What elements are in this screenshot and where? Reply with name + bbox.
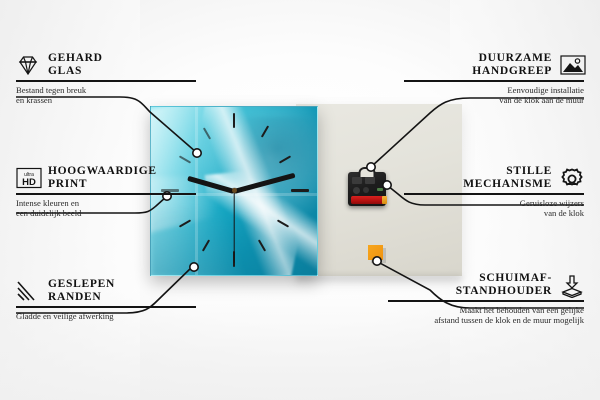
feature-title: GEHARDGLAS: [48, 52, 103, 77]
movement-dial: [353, 187, 360, 194]
clock-tick-5: [258, 239, 266, 251]
movement-dial: [363, 187, 369, 193]
gear-icon: [560, 167, 584, 189]
clock-tick-11: [203, 127, 211, 139]
divider: [404, 80, 584, 82]
feature-description: Gladde en veilige afwerking: [16, 311, 196, 321]
feature-gehard-glas: GEHARDGLAS Bestand tegen breuken krassen: [16, 52, 196, 105]
artwork-streak: [205, 160, 318, 276]
feature-description: Intense kleuren eneen duidelijk beeld: [16, 198, 196, 218]
clock-movement: [348, 172, 386, 206]
hanger-hook: [359, 167, 376, 177]
feature-stille-mechanisme: STILLEMECHANISME Geruisloze wijzersvan d…: [404, 165, 584, 218]
foam-spacer-pad: [368, 245, 383, 260]
feature-duurzame-handgreep: DUURZAMEHANDGREEP Eenvoudige installatie…: [404, 52, 584, 105]
feature-description: Maakt het behouden van een gelijkeafstan…: [388, 305, 584, 325]
spacer-stack-icon: [560, 274, 584, 296]
movement-detail: [352, 177, 362, 184]
feature-title: SCHUIMAF-STANDHOUDER: [456, 272, 552, 297]
feature-title: GESLEPENRANDEN: [48, 278, 115, 303]
clock-tick-1: [261, 125, 269, 137]
feature-description: Eenvoudige installatievan de klok aan de…: [404, 85, 584, 105]
clock-center-pin: [232, 188, 237, 193]
clock-minute-hand: [233, 173, 295, 194]
movement-label: [377, 188, 383, 191]
clock-tick-2: [279, 155, 291, 163]
picture-frame-icon: [560, 54, 584, 76]
battery-terminal: [382, 196, 387, 204]
clock-tick-4: [277, 219, 289, 227]
feature-title: DUURZAMEHANDGREEP: [472, 52, 552, 77]
divider: [404, 193, 584, 195]
clock-tick-8: [179, 219, 191, 227]
clock-tick-3: [291, 189, 309, 192]
movement-detail: [365, 177, 375, 184]
feature-description: Bestand tegen breuken krassen: [16, 85, 196, 105]
divider: [16, 193, 196, 195]
feature-title: HOOGWAARDIGEPRINT: [48, 165, 157, 190]
feature-description: Geruisloze wijzersvan de klok: [404, 198, 584, 218]
feature-title: STILLEMECHANISME: [463, 165, 552, 190]
feature-hoogwaardige-print: ultra HD HOOGWAARDIGEPRINT Intense kleur…: [16, 165, 196, 218]
clock-second-hand: [233, 191, 234, 263]
clock-tick-12: [233, 113, 235, 128]
aa-battery: [351, 196, 384, 204]
clock-tick-10: [179, 155, 191, 163]
bevelled-edges-icon: [16, 280, 40, 302]
divider: [16, 80, 196, 82]
promo-infographic: GEHARDGLAS Bestand tegen breuken krassen…: [0, 0, 600, 400]
feature-schuimafstandhouder: SCHUIMAF-STANDHOUDER Maakt het behouden …: [388, 272, 584, 325]
ultra-hd-icon: ultra HD: [16, 167, 40, 189]
divider: [388, 300, 584, 302]
svg-text:HD: HD: [22, 177, 36, 188]
feature-geslepen-randen: GESLEPENRANDEN Gladde en veilige afwerki…: [16, 278, 196, 321]
divider: [16, 306, 196, 308]
diamond-icon: [16, 54, 40, 76]
clock-tick-7: [202, 239, 210, 251]
